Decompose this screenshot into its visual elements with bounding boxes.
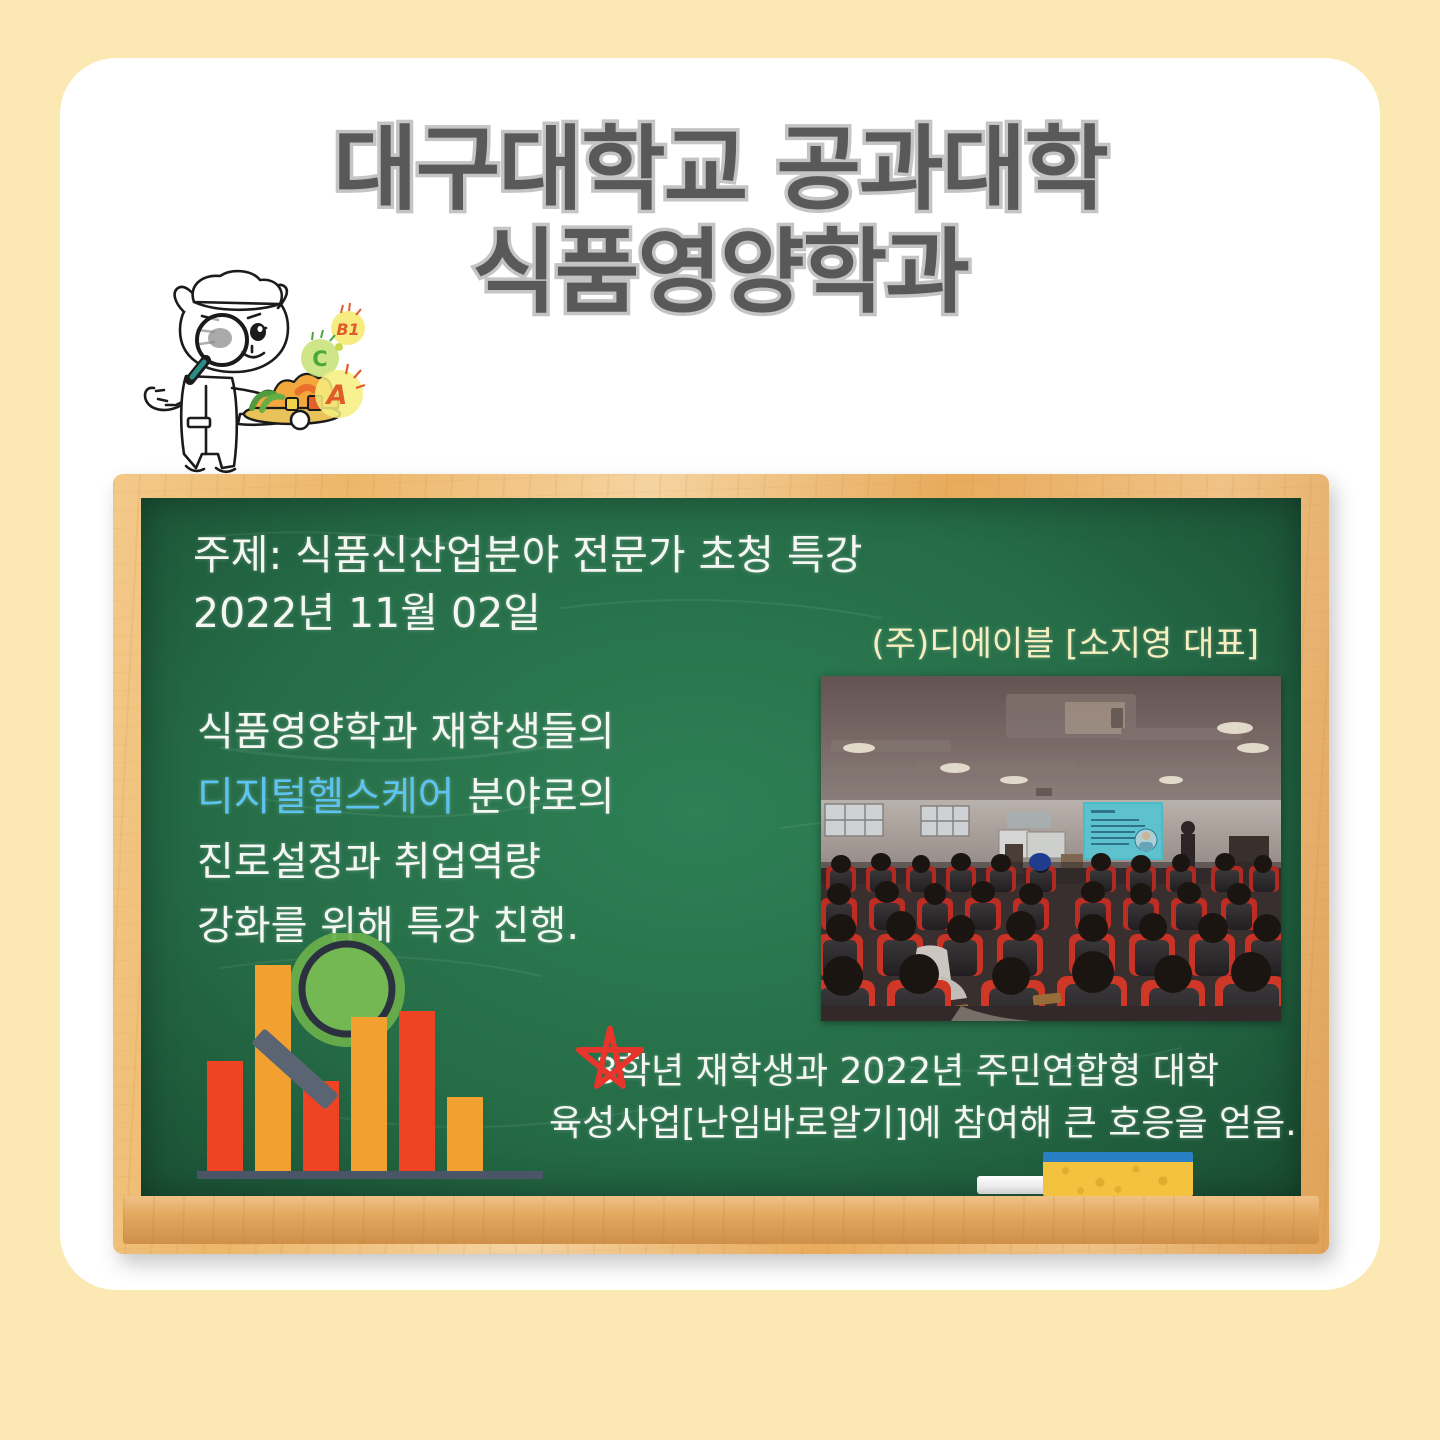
body-block: 식품영양학과 재학생들의 디지털헬스케어 분야로의 진로설정과 취업역량 강화를…: [197, 700, 797, 959]
note-line-1: 3학년 재학생과 2022년 주민연합형 대학: [549, 1046, 1301, 1098]
chalkboard-ledge: [123, 1196, 1319, 1244]
tiger-mascot-icon: B1 C A: [140, 268, 370, 493]
body-line-3: 진로설정과 취업역량: [197, 830, 797, 895]
lecture-hall-photo: [821, 676, 1281, 1021]
speaker-label: (주)디에이블 [소지영 대표]: [872, 616, 1259, 665]
body-line-1: 식품영양학과 재학생들의: [197, 700, 797, 765]
topic-block: 주제: 식품신산업분야 전문가 초청 특강 2022년 11월 02일: [193, 526, 973, 642]
magnifier-icon: [289, 933, 405, 1047]
svg-text:B1: B1: [336, 320, 359, 339]
chalk-stick-icon: [977, 1176, 1051, 1194]
sponge-eraser-icon: [1043, 1152, 1193, 1196]
note-line-2: 육성사업[난임바로알기]에 참여해 큰 호응을 얻음.: [549, 1098, 1301, 1150]
svg-text:C: C: [312, 347, 327, 371]
topic-line-2: 2022년 11월 02일: [193, 584, 973, 642]
chart-baseline: [197, 1171, 543, 1179]
body-line-2: 디지털헬스케어 분야로의: [197, 765, 797, 830]
body-line-2-tail: 분야로의: [455, 774, 615, 820]
note-block: 3학년 재학생과 2022년 주민연합형 대학 육성사업[난임바로알기]에 참여…: [549, 1046, 1301, 1150]
bar-5: [399, 1011, 435, 1173]
svg-text:A: A: [325, 380, 348, 411]
bar-chart-decoration: [197, 933, 557, 1198]
bar-6: [447, 1097, 483, 1173]
chalkboard-surface: 주제: 식품신산업분야 전문가 초청 특강 2022년 11월 02일 (주)디…: [141, 498, 1301, 1198]
highlight-digital-healthcare: 디지털헬스케어: [197, 774, 455, 820]
topic-line-1: 주제: 식품신산업분야 전문가 초청 특강: [193, 526, 973, 584]
poster-root: 대구대학교 공과대학 식품영양학과: [0, 0, 1440, 1440]
chalkboard: 주제: 식품신산업분야 전문가 초청 특강 2022년 11월 02일 (주)디…: [113, 474, 1329, 1254]
bar-1: [207, 1061, 243, 1173]
bar-4: [351, 1017, 387, 1173]
